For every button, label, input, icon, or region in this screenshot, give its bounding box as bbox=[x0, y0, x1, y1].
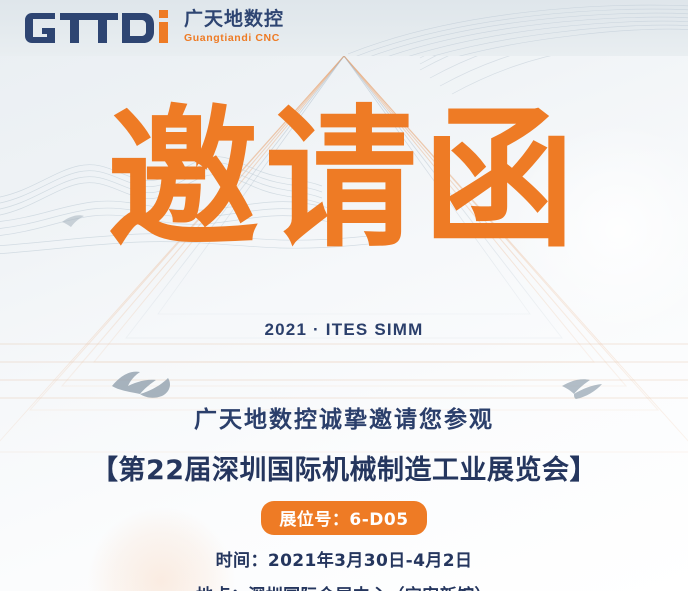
bird-left-icon bbox=[112, 372, 170, 398]
header-wave-decoration bbox=[348, 0, 688, 56]
invitation-poster: 广天地数控 Guangtiandi CNC 邀请函 2021 · ITES SI… bbox=[0, 0, 688, 591]
gtdi-logo-icon bbox=[22, 7, 172, 47]
brand-logo[interactable]: 广天地数控 Guangtiandi CNC bbox=[22, 7, 284, 47]
header-bar: 广天地数控 Guangtiandi CNC bbox=[0, 0, 688, 56]
company-name-cn: 广天地数控 bbox=[184, 10, 284, 29]
event-subtitle: 2021 · ITES SIMM bbox=[0, 320, 688, 340]
horizontal-rules bbox=[0, 344, 688, 398]
exhibition-name: 【第22届深圳国际机械制造工业展览会】 bbox=[0, 448, 688, 487]
hero-title-block: 邀请函 bbox=[0, 104, 688, 256]
invitation-title: 邀请函 bbox=[0, 104, 688, 256]
company-name-en: Guangtiandi CNC bbox=[184, 33, 284, 44]
brand-name-block: 广天地数控 Guangtiandi CNC bbox=[184, 10, 284, 44]
invitation-body: 广天地数控诚挚邀请您参观 【第22届深圳国际机械制造工业展览会】 展位号：6-D… bbox=[0, 400, 688, 591]
booth-badge-wrap: 展位号：6-D05 bbox=[0, 501, 688, 535]
invite-line: 广天地数控诚挚邀请您参观 bbox=[0, 400, 688, 434]
event-time: 时间：2021年3月30日-4月2日 bbox=[0, 546, 688, 571]
event-place: 地点：深圳国际会展中心（宝安新馆） bbox=[0, 581, 688, 591]
bird-right-icon bbox=[562, 379, 602, 399]
booth-number-badge: 展位号：6-D05 bbox=[261, 501, 426, 535]
